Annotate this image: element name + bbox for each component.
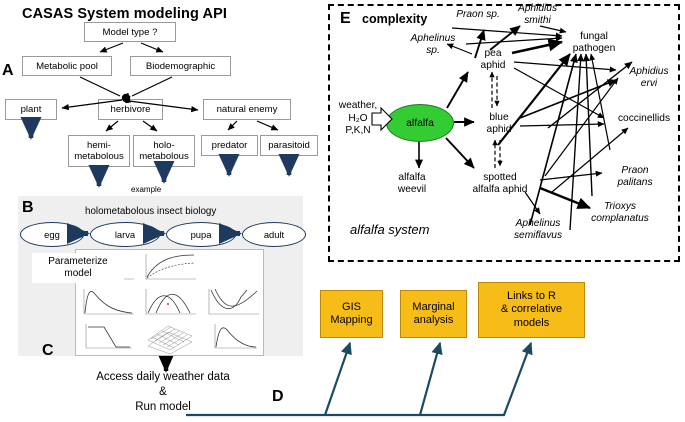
panel-e-food-web — [0, 0, 685, 422]
